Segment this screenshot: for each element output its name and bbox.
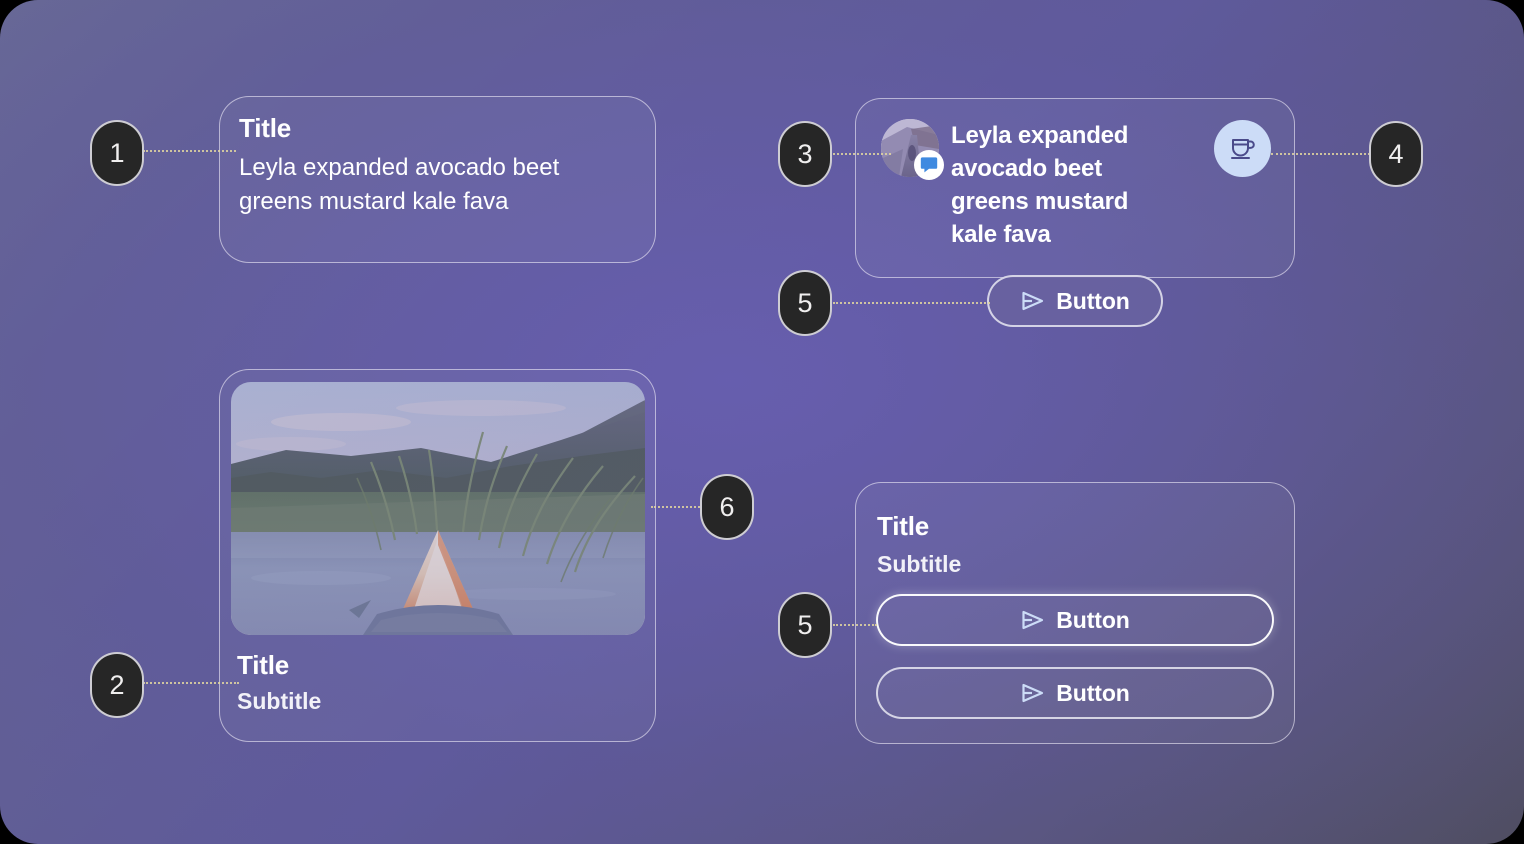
callout-badge-2[interactable]: 2 <box>90 652 144 718</box>
floating-button-label: Button <box>1056 288 1129 315</box>
chat-bubble-icon <box>914 150 944 180</box>
actions-card-subtitle: Subtitle <box>877 551 961 578</box>
plain-text-card-title: Title <box>239 113 291 144</box>
callout-leader-2 <box>143 682 239 684</box>
callout-badge-4[interactable]: 4 <box>1369 121 1423 187</box>
actions-card-button-secondary[interactable]: Button <box>876 667 1274 719</box>
send-triangle-icon <box>1020 609 1045 631</box>
callout-badge-1[interactable]: 1 <box>90 120 144 186</box>
callout-leader-6 <box>651 506 707 508</box>
callout-leader-1 <box>143 150 236 152</box>
media-card: Title Subtitle <box>219 369 656 742</box>
actions-card-button-primary-label: Button <box>1056 607 1129 634</box>
send-triangle-icon <box>1020 290 1045 312</box>
callout-badge-6[interactable]: 6 <box>700 474 754 540</box>
callout-leader-3 <box>833 153 891 155</box>
callout-badge-5a[interactable]: 5 <box>778 270 832 336</box>
callout-badge-3[interactable]: 3 <box>778 121 832 187</box>
media-card-title: Title <box>237 650 289 681</box>
callout-badge-6-label: 6 <box>719 492 734 523</box>
media-card-subtitle: Subtitle <box>237 688 321 715</box>
actions-card: Title Subtitle Button Button <box>855 482 1295 744</box>
actions-card-button-secondary-label: Button <box>1056 680 1129 707</box>
message-card: Leyla expanded avocado beet greens musta… <box>855 98 1295 278</box>
callout-badge-2-label: 2 <box>109 670 124 701</box>
media-card-image <box>231 382 645 635</box>
callout-badge-4-label: 4 <box>1388 139 1403 170</box>
send-triangle-icon <box>1020 682 1045 704</box>
callout-leader-5b <box>833 624 877 626</box>
design-callout-canvas: Title Leyla expanded avocado beet greens… <box>0 0 1524 844</box>
callout-leader-4 <box>1271 153 1370 155</box>
callout-badge-5b[interactable]: 5 <box>778 592 832 658</box>
plain-text-card: Title Leyla expanded avocado beet greens… <box>219 96 656 263</box>
actions-card-title: Title <box>877 511 929 542</box>
callout-badge-5a-label: 5 <box>797 288 812 319</box>
coffee-cup-icon[interactable] <box>1214 120 1271 177</box>
plain-text-card-body: Leyla expanded avocado beet greens musta… <box>239 151 639 219</box>
callout-leader-5a <box>833 302 990 304</box>
message-card-text: Leyla expanded avocado beet greens musta… <box>951 119 1176 251</box>
actions-card-button-primary[interactable]: Button <box>876 594 1274 646</box>
avatar <box>881 119 939 177</box>
floating-button[interactable]: Button <box>987 275 1163 327</box>
kayak-lake-photo <box>231 382 645 635</box>
callout-badge-1-label: 1 <box>109 138 124 169</box>
callout-badge-3-label: 3 <box>797 139 812 170</box>
callout-badge-5b-label: 5 <box>797 610 812 641</box>
